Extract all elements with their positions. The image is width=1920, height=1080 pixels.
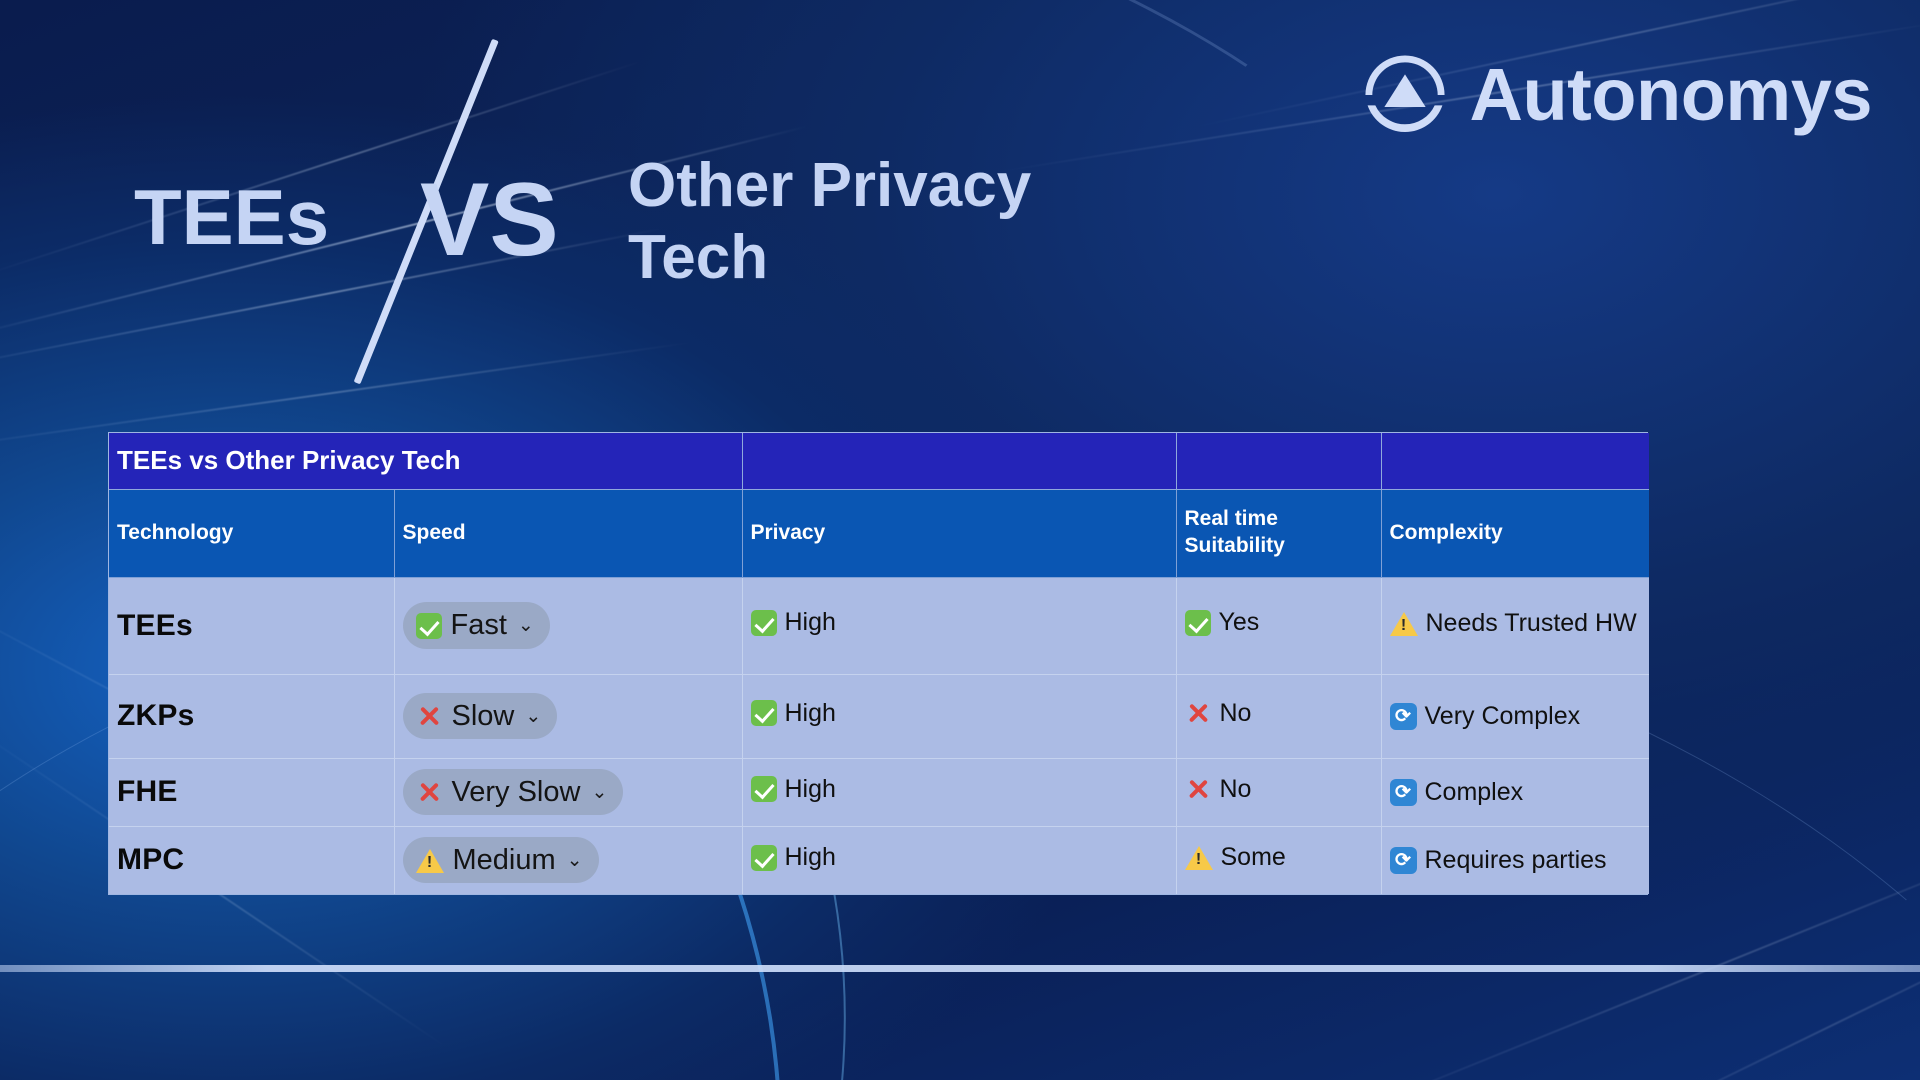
privacy-value: High [785, 699, 836, 728]
realtime-value: No [1220, 699, 1252, 728]
complexity-value-wrap: Needs Trusted HW [1390, 609, 1637, 638]
table-title-cell: TEEs vs Other Privacy Tech [109, 433, 742, 489]
speed-value: Medium [453, 844, 556, 876]
cell-speed: Slow ⌄ [394, 674, 742, 758]
speed-dropdown[interactable]: Fast ⌄ [403, 602, 550, 648]
hero-title: TEEs VS Other Privacy Tech [0, 0, 1200, 400]
complexity-value: Needs Trusted HW [1426, 609, 1637, 638]
realtime-value-wrap: Some [1185, 843, 1286, 872]
complexity-value-wrap: ⟳ Complex [1390, 778, 1524, 807]
cell-privacy: High [742, 758, 1176, 826]
hero-right-term: Other Privacy Tech [628, 150, 1168, 294]
complexity-value-wrap: ⟳ Very Complex [1390, 702, 1581, 731]
cell-realtime: No [1176, 758, 1381, 826]
realtime-value-wrap: No [1185, 699, 1252, 728]
privacy-value-wrap: High [751, 843, 836, 872]
chevron-down-icon[interactable]: ⌄ [591, 783, 607, 802]
red-cross-icon [416, 703, 443, 730]
cell-realtime: No [1176, 674, 1381, 758]
technology-name: ZKPs [117, 699, 195, 732]
cell-technology: FHE [109, 758, 394, 826]
red-cross-icon [1185, 700, 1212, 727]
hero-left-term: TEEs [134, 178, 329, 256]
cell-technology: TEEs [109, 577, 394, 674]
green-check-icon [751, 700, 777, 726]
brand-name: Autonomys [1470, 58, 1873, 132]
column-header-real-time-suitability[interactable]: Real time Suitability [1176, 489, 1381, 577]
warning-triangle-icon [1390, 611, 1418, 636]
privacy-value: High [785, 775, 836, 804]
column-header-speed[interactable]: Speed [394, 489, 742, 577]
cell-complexity: ⟳ Requires parties [1381, 826, 1649, 894]
realtime-value: Some [1221, 843, 1286, 872]
comparison-table: TEEs vs Other Privacy Tech Technology Sp… [108, 432, 1648, 895]
speed-dropdown[interactable]: Very Slow ⌄ [403, 769, 624, 815]
privacy-value-wrap: High [751, 608, 836, 637]
table-title-row: TEEs vs Other Privacy Tech [109, 433, 1649, 489]
speed-dropdown[interactable]: Medium ⌄ [403, 837, 599, 883]
red-cross-icon [416, 779, 443, 806]
warning-triangle-icon [1185, 845, 1213, 870]
cycle-arrows-icon: ⟳ [1390, 847, 1417, 874]
privacy-value-wrap: High [751, 699, 836, 728]
table-row: ZKPs Slow ⌄ High [109, 674, 1649, 758]
column-header-label: Speed [403, 521, 466, 544]
cell-speed: Very Slow ⌄ [394, 758, 742, 826]
green-check-icon [416, 613, 442, 639]
realtime-value: No [1220, 775, 1252, 804]
cell-complexity: ⟳ Very Complex [1381, 674, 1649, 758]
cell-speed: Fast ⌄ [394, 577, 742, 674]
cycle-arrows-icon: ⟳ [1390, 779, 1417, 806]
table-row: FHE Very Slow ⌄ High [109, 758, 1649, 826]
technology-name: TEEs [117, 609, 193, 642]
cell-realtime: Some [1176, 826, 1381, 894]
complexity-value: Requires parties [1425, 846, 1607, 875]
green-check-icon [751, 845, 777, 871]
green-check-icon [751, 776, 777, 802]
cell-privacy: High [742, 674, 1176, 758]
technology-name: FHE [117, 775, 178, 808]
slide-canvas: Autonomys TEEs VS Other Privacy Tech TEE… [0, 0, 1920, 1080]
speed-value: Very Slow [452, 776, 581, 808]
brand-logo: Autonomys [1362, 52, 1873, 138]
column-header-label-line1: Real time [1185, 506, 1371, 533]
bottom-divider [0, 965, 1920, 972]
autonomys-triangle-circle-icon [1362, 52, 1448, 138]
privacy-value: High [785, 608, 836, 637]
column-header-label: Complexity [1390, 521, 1503, 544]
column-header-label: Technology [117, 521, 233, 544]
table-title: TEEs vs Other Privacy Tech [109, 445, 470, 475]
cell-privacy: High [742, 577, 1176, 674]
red-cross-icon [1185, 776, 1212, 803]
speed-dropdown[interactable]: Slow ⌄ [403, 693, 558, 739]
cell-technology: MPC [109, 826, 394, 894]
table-title-spacer [1381, 433, 1649, 489]
cycle-arrows-icon: ⟳ [1390, 703, 1417, 730]
cell-speed: Medium ⌄ [394, 826, 742, 894]
realtime-value: Yes [1219, 608, 1260, 637]
complexity-value: Complex [1425, 778, 1524, 807]
realtime-value-wrap: No [1185, 775, 1252, 804]
complexity-value: Very Complex [1425, 702, 1581, 731]
technology-name: MPC [117, 843, 184, 876]
chevron-down-icon[interactable]: ⌄ [518, 616, 534, 635]
chevron-down-icon[interactable]: ⌄ [567, 851, 583, 870]
column-header-label: Privacy [751, 521, 826, 544]
realtime-value-wrap: Yes [1185, 608, 1260, 637]
green-check-icon [1185, 610, 1211, 636]
cell-realtime: Yes [1176, 577, 1381, 674]
cell-technology: ZKPs [109, 674, 394, 758]
privacy-value: High [785, 843, 836, 872]
green-check-icon [751, 610, 777, 636]
chevron-down-icon[interactable]: ⌄ [525, 707, 541, 726]
speed-value: Slow [452, 700, 515, 732]
table-row: TEEs Fast ⌄ High [109, 577, 1649, 674]
cell-privacy: High [742, 826, 1176, 894]
table-title-spacer [1176, 433, 1381, 489]
column-header-complexity[interactable]: Complexity [1381, 489, 1649, 577]
column-header-privacy[interactable]: Privacy [742, 489, 1176, 577]
table-header-row: Technology Speed Privacy Real time Suita… [109, 489, 1649, 577]
cell-complexity: Needs Trusted HW [1381, 577, 1649, 674]
table-title-spacer [742, 433, 1176, 489]
cell-complexity: ⟳ Complex [1381, 758, 1649, 826]
column-header-technology[interactable]: Technology [109, 489, 394, 577]
warning-triangle-icon [416, 848, 444, 873]
complexity-value-wrap: ⟳ Requires parties [1390, 846, 1607, 875]
privacy-value-wrap: High [751, 775, 836, 804]
speed-value: Fast [451, 609, 507, 641]
column-header-label-line2: Suitability [1185, 533, 1371, 560]
table-row: MPC Medium ⌄ High [109, 826, 1649, 894]
hero-vs-label: VS [420, 168, 559, 272]
